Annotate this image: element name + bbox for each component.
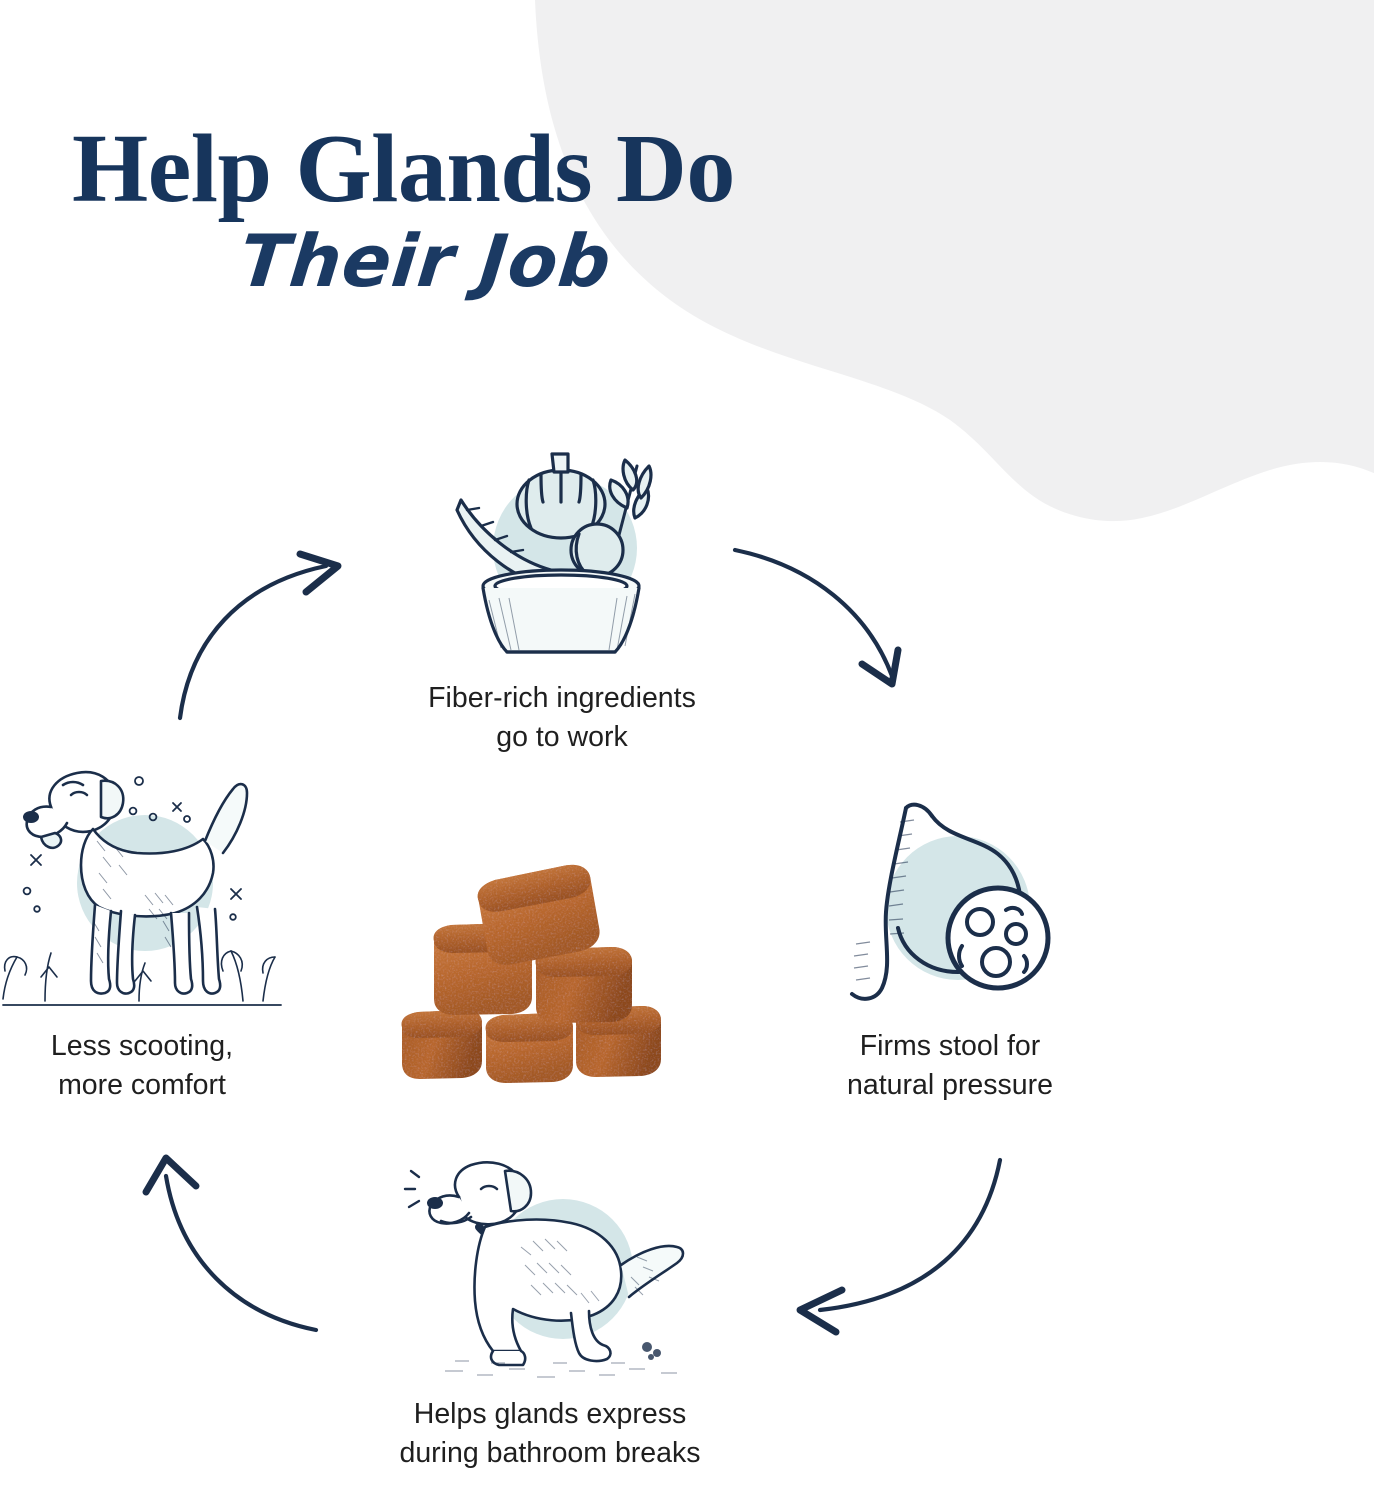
arrow-right-to-bottom-icon bbox=[800, 1160, 1000, 1332]
arrow-left-to-top-icon bbox=[180, 554, 338, 718]
happy-standing-dog-icon bbox=[0, 755, 287, 1017]
soft-chew-stack-product-image bbox=[378, 855, 688, 1105]
cycle-step-fiber: Fiber-rich ingredients go to work bbox=[352, 440, 772, 758]
infographic-page: Help Glands Do Their Job bbox=[0, 0, 1374, 1500]
cycle-step-express: Helps glands express during bathroom bre… bbox=[330, 1135, 770, 1474]
cycle-step-firm-stool: Firms stool for natural pressure bbox=[800, 780, 1100, 1106]
cycle-step-comfort-caption: Less scooting, more comfort bbox=[0, 1027, 292, 1106]
cycle-step-firm-stool-caption: Firms stool for natural pressure bbox=[800, 1027, 1100, 1106]
intestine-with-magnified-stool-icon bbox=[820, 780, 1080, 1015]
cycle-step-fiber-caption: Fiber-rich ingredients go to work bbox=[352, 679, 772, 758]
page-title-line2: Their Job bbox=[236, 224, 1036, 300]
arrow-bottom-to-left-icon bbox=[146, 1158, 316, 1330]
page-title-line1: Help Glands Do bbox=[72, 120, 1032, 218]
page-title: Help Glands Do Their Job bbox=[72, 120, 1032, 300]
cycle-step-express-caption: Helps glands express during bathroom bre… bbox=[330, 1395, 770, 1474]
cycle-step-comfort: Less scooting, more comfort bbox=[0, 755, 292, 1106]
chew-piece bbox=[536, 947, 632, 1023]
dog-squatting-bathroom-icon bbox=[385, 1135, 715, 1385]
chew-piece bbox=[486, 1013, 573, 1083]
chew-piece bbox=[402, 1010, 482, 1079]
dog-bowl-with-pumpkin-beet-aloe-wheat-icon bbox=[437, 440, 687, 665]
